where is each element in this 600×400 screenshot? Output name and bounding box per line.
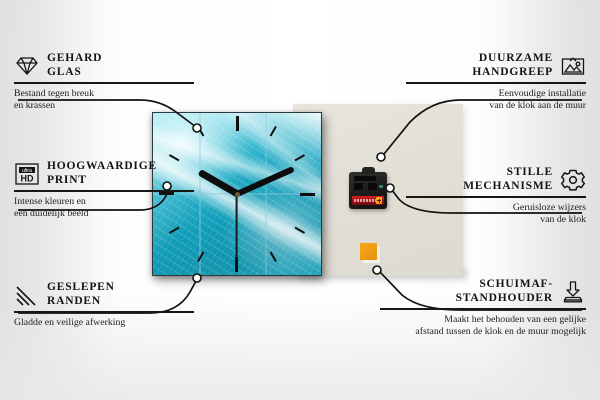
feature-desc-line-2: van de klok xyxy=(540,214,586,225)
feature-title-line-1: GESLEPEN xyxy=(47,281,115,293)
feature-header: GESLEPEN RANDEN xyxy=(14,281,194,308)
down-arrow-spacer-icon xyxy=(560,280,586,304)
feature-divider xyxy=(380,308,586,310)
leader-dot-handgreep xyxy=(377,153,385,161)
feature-title-line-2: PRINT xyxy=(47,174,87,186)
feature-divider xyxy=(14,82,194,84)
feature-title-line-1: DUURZAME xyxy=(479,52,553,64)
feature-divider xyxy=(406,82,586,84)
ultra-hd-icon: ultra HD xyxy=(14,162,40,186)
feature-desc-line-1: Gladde en veilige afwerking xyxy=(14,317,125,328)
feature-desc-line-1: Maakt het behouden van een gelijke xyxy=(444,314,586,325)
feature-desc-line-2: van de klok aan de muur xyxy=(489,100,586,111)
feature-divider xyxy=(14,311,194,313)
feature-title-line-1: HOOGWAARDIGE xyxy=(47,160,157,172)
feature-title-line-2: STANDHOUDER xyxy=(456,292,553,304)
feature-title-line-2: GLAS xyxy=(47,66,82,78)
feature-description: Intense kleuren en een duidelijk beeld xyxy=(14,196,194,220)
feature-title-line-2: HANDGREEP xyxy=(472,66,553,78)
feature-hoogwaardige-print: ultra HD HOOGWAARDIGE PRINT Intense kleu… xyxy=(14,160,194,220)
feature-divider xyxy=(14,190,194,192)
feature-title: HOOGWAARDIGE PRINT xyxy=(47,160,157,187)
feature-title: STILLE MECHANISME xyxy=(463,166,553,193)
feature-header: ultra HD HOOGWAARDIGE PRINT xyxy=(14,160,194,187)
feature-desc-line-2: een duidelijk beeld xyxy=(14,208,89,219)
feature-header: DUURZAME HANDGREEP xyxy=(406,52,586,79)
leader-dot-mechanisme xyxy=(386,184,394,192)
feature-description: Eenvoudige installatie van de klok aan d… xyxy=(406,88,586,112)
feature-divider xyxy=(406,196,586,198)
feature-duurzame-handgreep: DUURZAME HANDGREEP Eenvoudige installati… xyxy=(406,52,586,112)
product-feature-infographic: GEHARD GLAS Bestand tegen breuk en krass… xyxy=(0,0,600,400)
feature-title: GEHARD GLAS xyxy=(47,52,102,79)
beveled-edges-icon xyxy=(14,283,40,307)
gear-icon xyxy=(560,168,586,192)
feature-title-line-1: GEHARD xyxy=(47,52,102,64)
feature-description: Maakt het behouden van een gelijke afsta… xyxy=(380,314,586,338)
feature-description: Geruisloze wijzers van de klok xyxy=(406,202,586,226)
feature-description: Bestand tegen breuk en krassen xyxy=(14,88,194,112)
feature-desc-line-1: Eenvoudige installatie xyxy=(499,88,586,99)
leader-dot-gehard xyxy=(193,124,201,132)
feature-description: Gladde en veilige afwerking xyxy=(14,317,194,329)
feature-gehard-glas: GEHARD GLAS Bestand tegen breuk en krass… xyxy=(14,52,194,112)
feature-desc-line-2: en krassen xyxy=(14,100,55,111)
feature-desc-line-1: Intense kleuren en xyxy=(14,196,86,207)
leader-dot-schuim xyxy=(373,266,381,274)
diamond-icon xyxy=(14,54,40,78)
picture-frame-icon xyxy=(560,54,586,78)
feature-header: SCHUIMAF- STANDHOUDER xyxy=(380,278,586,305)
feature-title: DUURZAME HANDGREEP xyxy=(472,52,553,79)
feature-title-line-1: STILLE xyxy=(507,166,553,178)
feature-header: STILLE MECHANISME xyxy=(406,166,586,193)
feature-desc-line-1: Bestand tegen breuk xyxy=(14,88,94,99)
feature-title: SCHUIMAF- STANDHOUDER xyxy=(456,278,553,305)
feature-title: GESLEPEN RANDEN xyxy=(47,281,115,308)
leader-dot-randen xyxy=(193,274,201,282)
feature-stille-mechanisme: STILLE MECHANISME Geruisloze wijzers van… xyxy=(406,166,586,226)
feature-geslepen-randen: GESLEPEN RANDEN Gladde en veilige afwerk… xyxy=(14,281,194,329)
feature-title-line-2: RANDEN xyxy=(47,295,101,307)
feature-desc-line-2: afstand tussen de klok en de muur mogeli… xyxy=(415,326,586,337)
feature-title-line-1: SCHUIMAF- xyxy=(479,278,553,290)
feature-desc-line-1: Geruisloze wijzers xyxy=(513,202,586,213)
feature-title-line-2: MECHANISME xyxy=(463,180,553,192)
feature-header: GEHARD GLAS xyxy=(14,52,194,79)
feature-schuimafstandhouder: SCHUIMAF- STANDHOUDER Maakt het behouden… xyxy=(380,278,586,338)
svg-text:HD: HD xyxy=(21,173,34,183)
